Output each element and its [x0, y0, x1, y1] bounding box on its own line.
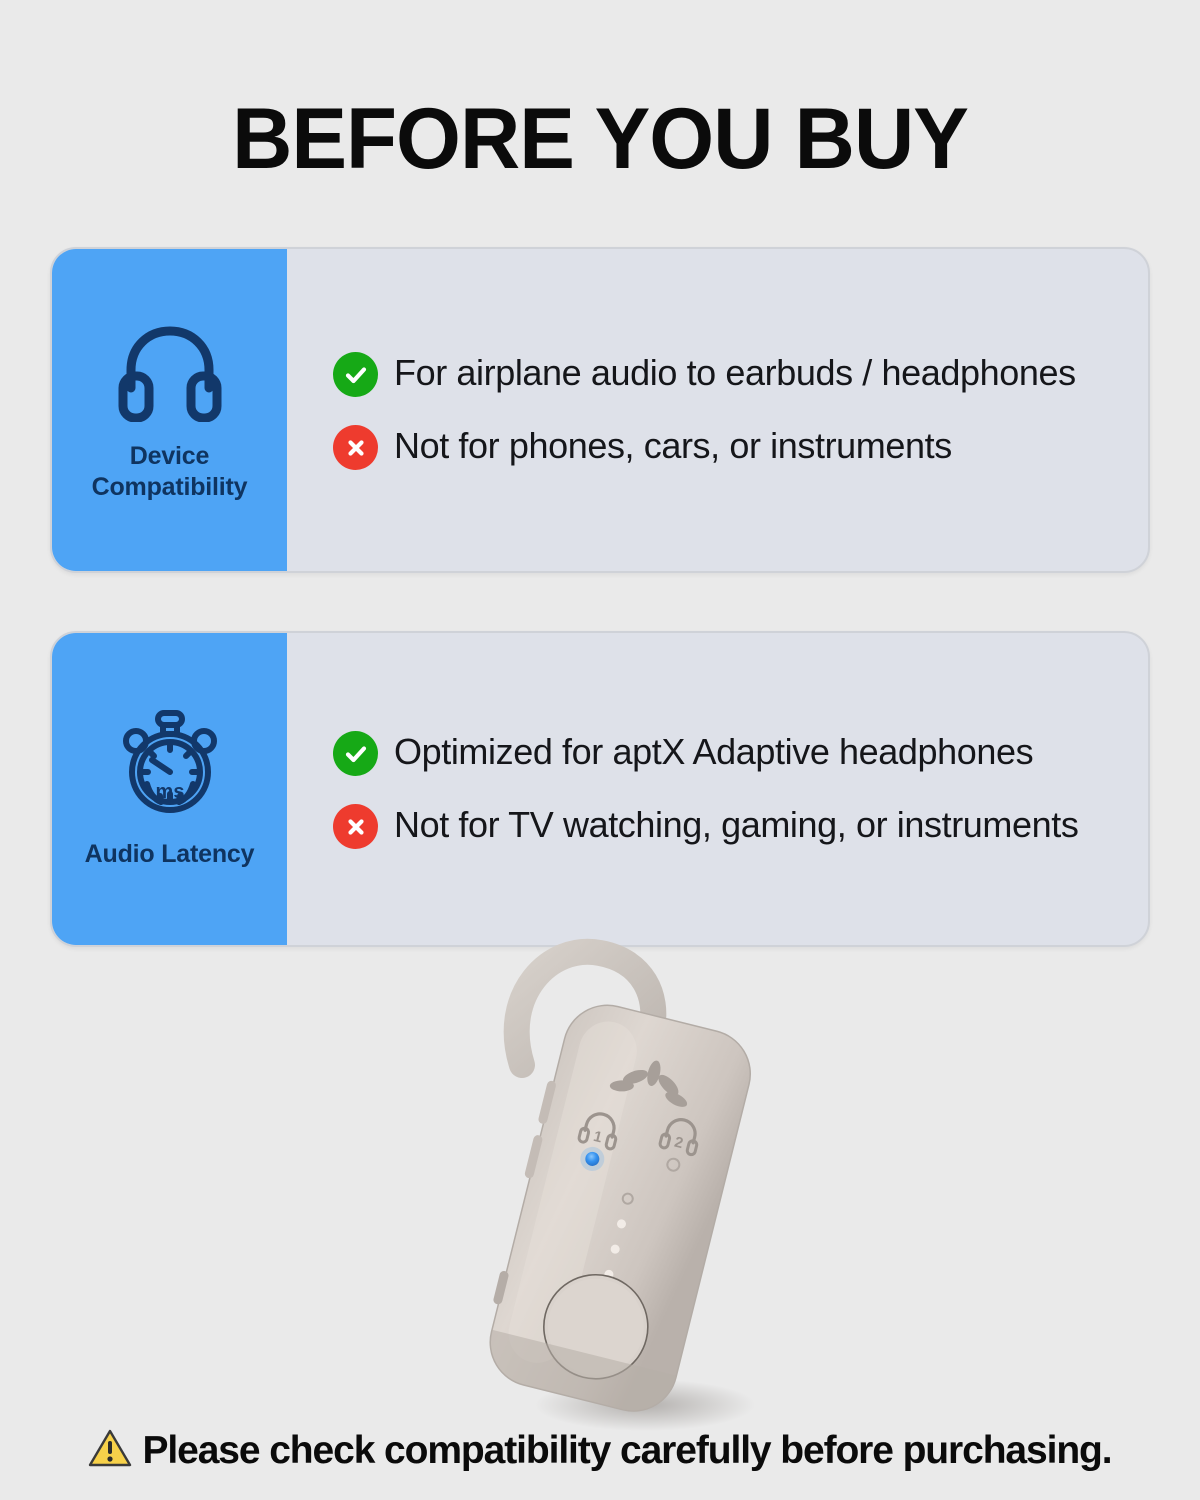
cross-icon: [333, 804, 378, 849]
footer-warning-text: Please check compatibility carefully bef…: [142, 1429, 1111, 1473]
footer-warning: Please check compatibility carefully bef…: [0, 1428, 1200, 1473]
card-2-label: Audio Latency: [85, 839, 255, 870]
page-title: BEFORE YOU BUY: [18, 96, 1182, 182]
headphones-icon: [115, 318, 225, 427]
card-1-label-line2: Compatibility: [92, 473, 248, 501]
product-image: 1 2: [430, 905, 810, 1435]
bullet-text: Optimized for aptX Adaptive headphones: [394, 729, 1033, 775]
card-1-label-line1: Device: [130, 442, 209, 470]
bullet-text: Not for TV watching, gaming, or instrume…: [394, 802, 1078, 848]
bullet-row: For airplane audio to earbuds / headphon…: [333, 350, 1120, 397]
stopwatch-ms-icon: ms: [114, 708, 226, 825]
card-device-compatibility: Device Compatibility For airplane audio …: [50, 247, 1150, 573]
bullet-row: Not for phones, cars, or instruments: [333, 423, 1120, 470]
svg-text:ms: ms: [155, 781, 184, 803]
cross-icon: [333, 425, 378, 470]
card-2-content: Optimized for aptX Adaptive headphones N…: [287, 633, 1148, 945]
check-icon: [333, 731, 378, 776]
card-audio-latency: ms Audio Latency Optimized for aptX Adap…: [50, 631, 1150, 947]
bullet-text: For airplane audio to earbuds / headphon…: [394, 350, 1076, 396]
card-1-content: For airplane audio to earbuds / headphon…: [287, 249, 1148, 571]
warning-triangle-icon: [88, 1428, 132, 1473]
card-1-icon-panel: Device Compatibility: [52, 249, 287, 571]
infographic-page: BEFORE YOU BUY Device Compatibility: [0, 0, 1200, 1500]
bullet-row: Optimized for aptX Adaptive headphones: [333, 729, 1120, 776]
card-2-label-line1: Audio Latency: [85, 840, 255, 868]
check-icon: [333, 352, 378, 397]
card-2-icon-panel: ms Audio Latency: [52, 633, 287, 945]
bullet-row: Not for TV watching, gaming, or instrume…: [333, 802, 1120, 849]
card-1-label: Device Compatibility: [92, 441, 248, 502]
bullet-text: Not for phones, cars, or instruments: [394, 423, 952, 469]
